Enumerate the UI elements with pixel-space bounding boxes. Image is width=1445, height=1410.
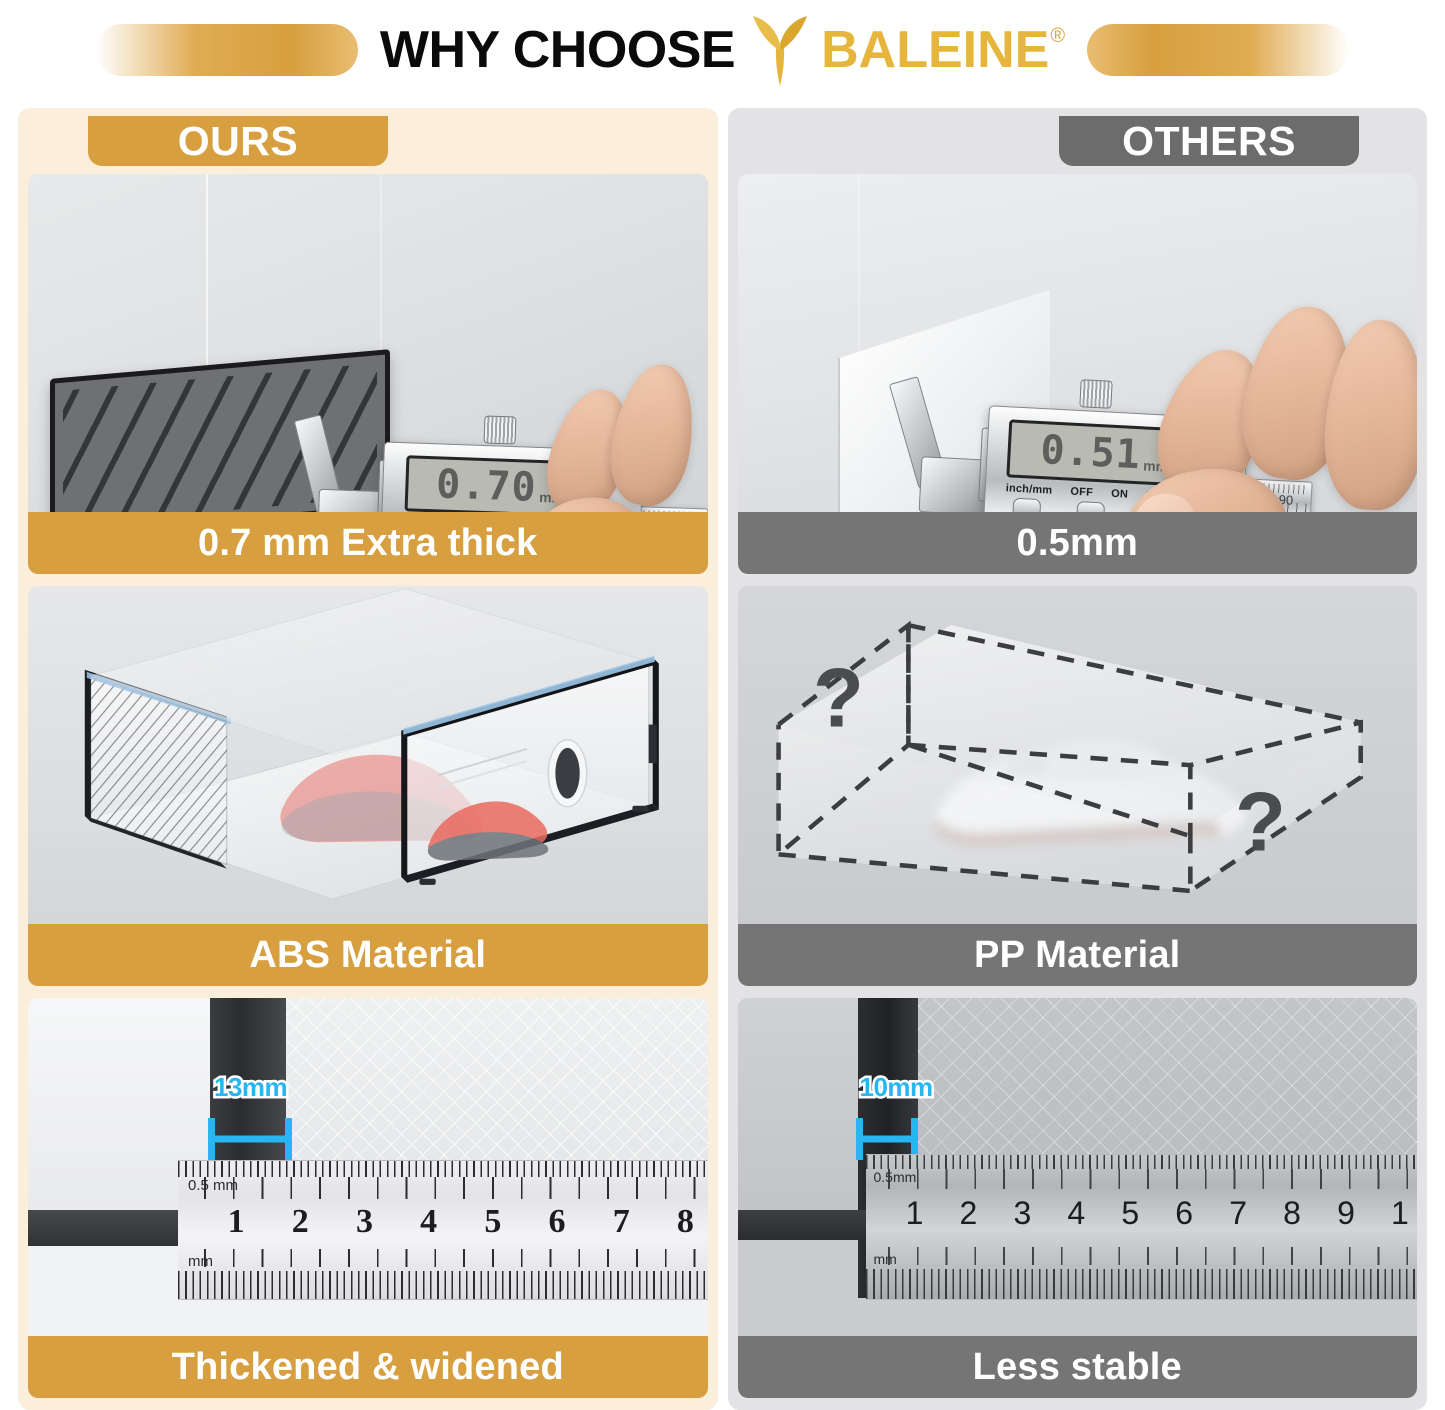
ruler-numbers-others: 1 2 3 4 5 6 7 8 9 1 bbox=[888, 1195, 1418, 1232]
caliper-button-inchmm[interactable]: inch/mm bbox=[1005, 482, 1052, 496]
hand-holding-caliper bbox=[1094, 344, 1414, 512]
photo-others-ruler: 10mm 0.5mm 1 bbox=[738, 998, 1418, 1336]
ruler-number: 8 bbox=[653, 1203, 707, 1241]
photo-ours-abs-box bbox=[28, 586, 708, 924]
ruler-number: 5 bbox=[461, 1203, 525, 1241]
ruler-number: 4 bbox=[1049, 1195, 1103, 1232]
question-mark-left: ? bbox=[813, 652, 864, 745]
ruler-bottom-major-ticks bbox=[888, 1247, 1418, 1265]
ruler-ours: 0.5 mm 1 2 3 4 5 6 7 8 mm bbox=[178, 1160, 708, 1300]
registered-trademark-icon: ® bbox=[1050, 26, 1065, 46]
card-ours-stability: 13mm 0.5 mm 1 bbox=[28, 998, 708, 1398]
pp-shoe-box-illustration: ? ? bbox=[738, 586, 1418, 924]
column-ours: OURS bbox=[18, 108, 718, 1410]
dimension-label-10mm: 10mm bbox=[860, 1072, 933, 1103]
abs-shoe-box-illustration bbox=[28, 586, 708, 924]
ruler-others: 0.5mm 1 2 3 4 5 6 7 8 9 1 bbox=[866, 1154, 1418, 1300]
ruler-number: 3 bbox=[332, 1203, 396, 1241]
bracket-bar bbox=[856, 1136, 918, 1143]
brand-name-group: BALEINE ® bbox=[821, 24, 1065, 76]
dimension-label-13mm: 13mm bbox=[214, 1072, 287, 1103]
caption-others-stability: Less stable bbox=[738, 1336, 1418, 1398]
cards-others: 70 80 90 0.51 mm bbox=[738, 174, 1418, 1398]
hand-holding-caliper bbox=[498, 394, 708, 512]
header-gold-bar-right bbox=[1087, 24, 1349, 76]
ruler-number: 7 bbox=[1211, 1195, 1265, 1232]
card-ours-thickness: 70 80 90 0.70 bbox=[28, 174, 708, 574]
ruler-numbers-ours: 1 2 3 4 5 6 7 8 bbox=[204, 1203, 708, 1241]
header-title-group: WHY CHOOSE BALEINE ® bbox=[358, 14, 1087, 86]
caption-others-thickness: 0.5mm bbox=[738, 512, 1418, 574]
ruler-number: 3 bbox=[995, 1195, 1049, 1232]
bracket-cap-right bbox=[285, 1118, 292, 1160]
ruler-number: 1 bbox=[1373, 1195, 1417, 1232]
ruler-top-label: 0.5 mm bbox=[188, 1177, 238, 1194]
photo-ours-ruler: 13mm 0.5 mm 1 bbox=[28, 998, 708, 1336]
cards-ours: 70 80 90 0.70 bbox=[28, 174, 708, 1398]
card-others-material: ? ? ? ? PP Material bbox=[738, 586, 1418, 986]
ruler-number: 9 bbox=[1319, 1195, 1373, 1232]
tab-others[interactable]: OTHERS bbox=[1059, 116, 1359, 166]
ruler-number: 6 bbox=[1157, 1195, 1211, 1232]
ruler-bottom-fine-ticks bbox=[178, 1271, 708, 1299]
ruler-bottom-major-ticks bbox=[204, 1249, 708, 1267]
caliper-button-1[interactable] bbox=[1012, 498, 1041, 512]
ruler-number: 1 bbox=[888, 1195, 942, 1232]
whale-tail-icon bbox=[749, 14, 811, 86]
comparison-columns: OURS bbox=[0, 108, 1445, 1410]
bracket-bar bbox=[208, 1136, 292, 1143]
card-others-thickness: 70 80 90 0.51 mm bbox=[738, 174, 1418, 574]
ruler-top-major-ticks bbox=[888, 1169, 1418, 1189]
tab-ours[interactable]: OURS bbox=[88, 116, 388, 166]
ruler-number: 2 bbox=[268, 1203, 332, 1241]
caption-ours-thickness: 0.7 mm Extra thick bbox=[28, 512, 708, 574]
ruler-number: 4 bbox=[397, 1203, 461, 1241]
ruler-bottom-fine-ticks bbox=[866, 1269, 1418, 1299]
ruler-top-major-ticks bbox=[204, 1177, 708, 1199]
photo-others-caliper: 70 80 90 0.51 mm bbox=[738, 174, 1418, 512]
header-gold-bar-left bbox=[96, 24, 358, 76]
column-others: OTHERS 70 bbox=[728, 108, 1428, 1410]
tab-row-others: OTHERS bbox=[738, 118, 1418, 174]
dimension-bracket bbox=[208, 1118, 292, 1160]
brand-name: BALEINE bbox=[821, 24, 1049, 76]
ruler-number: 1 bbox=[204, 1203, 268, 1241]
caliper-button-off[interactable]: OFF bbox=[1070, 486, 1093, 499]
ruler-number: 7 bbox=[589, 1203, 653, 1241]
photo-others-pp-box: ? ? ? ? bbox=[738, 586, 1418, 924]
question-mark-right: ? bbox=[1234, 775, 1285, 868]
card-others-stability: 10mm 0.5mm 1 bbox=[738, 998, 1418, 1398]
ruler-top-fine-ticks bbox=[178, 1161, 708, 1177]
ruler-top-fine-ticks bbox=[866, 1155, 1418, 1169]
ruler-number: 5 bbox=[1103, 1195, 1157, 1232]
ruler-number: 2 bbox=[941, 1195, 995, 1232]
caption-ours-stability: Thickened & widened bbox=[28, 1336, 708, 1398]
card-ours-material: ABS Material bbox=[28, 586, 708, 986]
page-header: WHY CHOOSE BALEINE ® bbox=[0, 0, 1445, 100]
infographic-page: WHY CHOOSE BALEINE ® OURS bbox=[0, 0, 1445, 1410]
ruler-number: 6 bbox=[525, 1203, 589, 1241]
tab-row-ours: OURS bbox=[28, 118, 708, 174]
ruler-number: 8 bbox=[1265, 1195, 1319, 1232]
background-wall bbox=[738, 998, 858, 1210]
photo-ours-caliper: 70 80 90 0.70 bbox=[28, 174, 708, 512]
caption-ours-material: ABS Material bbox=[28, 924, 708, 986]
caption-others-material: PP Material bbox=[738, 924, 1418, 986]
page-title: WHY CHOOSE bbox=[380, 24, 735, 76]
ruler-top-label: 0.5mm bbox=[874, 1169, 917, 1185]
